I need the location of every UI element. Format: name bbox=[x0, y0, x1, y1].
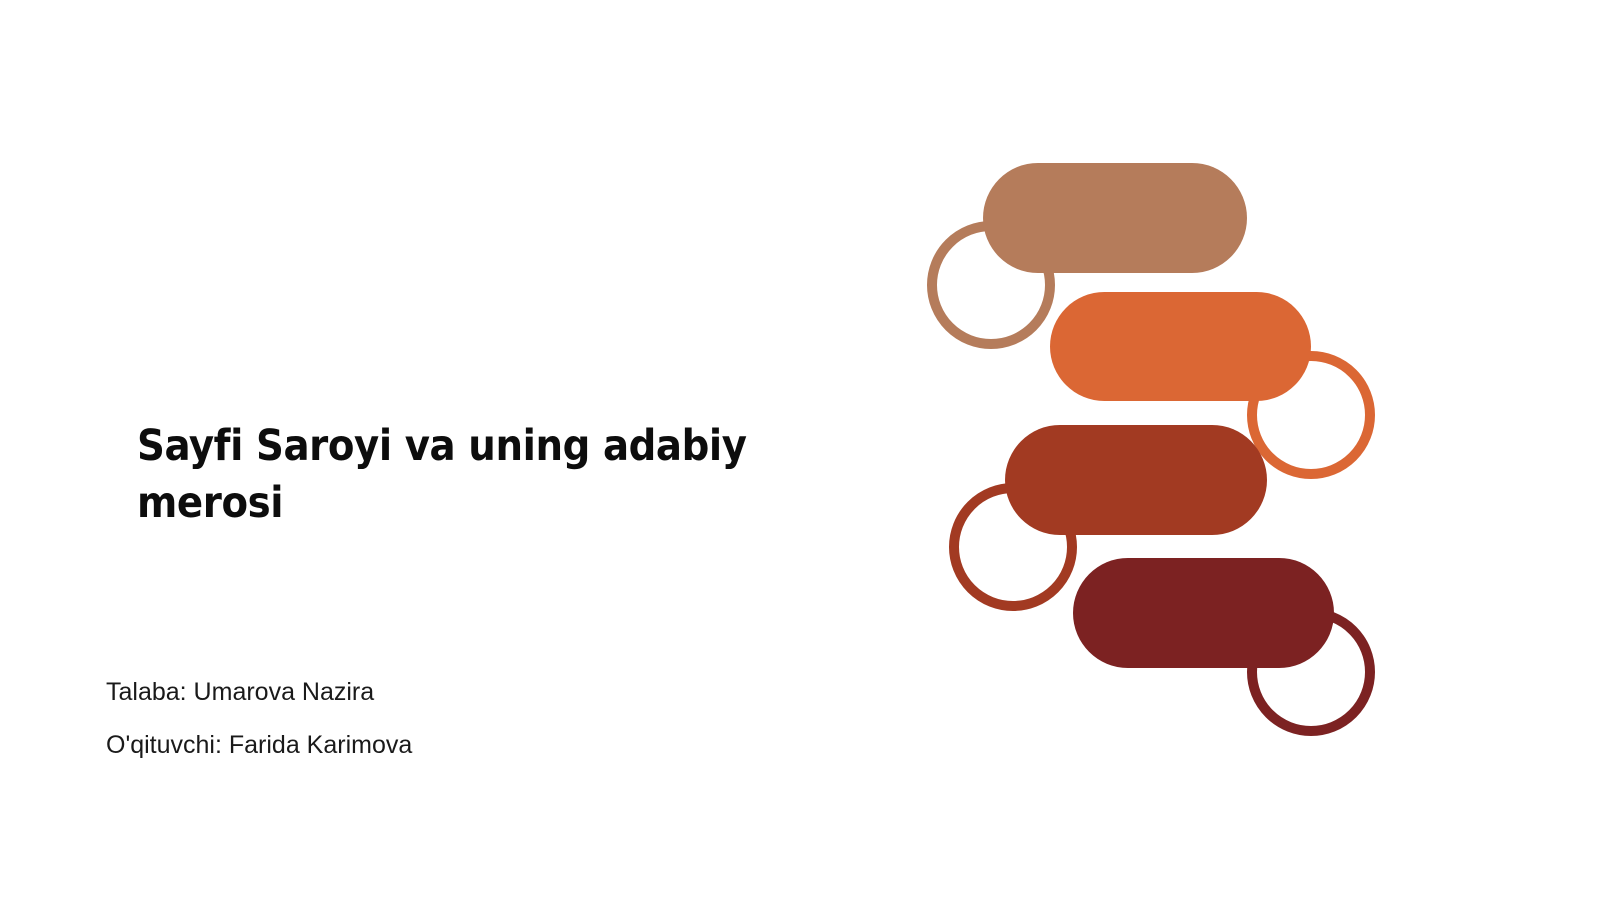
pill-brick bbox=[1005, 425, 1267, 535]
title-text-column: Sayfi Saroyi va uning adabiy merosi Tala… bbox=[0, 0, 860, 900]
decorative-graphic bbox=[880, 130, 1420, 770]
student-byline: Talaba: Umarova Nazira bbox=[106, 674, 806, 712]
pill-maroon bbox=[1073, 558, 1334, 668]
slide-canvas: Sayfi Saroyi va uning adabiy merosi Tala… bbox=[0, 0, 1600, 900]
pill-orange bbox=[1050, 292, 1311, 401]
deco-group-maroon bbox=[1073, 558, 1370, 731]
pill-tan bbox=[983, 163, 1247, 273]
teacher-byline: O'qituvchi: Farida Karimova bbox=[106, 727, 806, 765]
page-title: Sayfi Saroyi va uning adabiy merosi bbox=[137, 418, 817, 532]
pill-ring-stack-svg bbox=[880, 130, 1420, 770]
